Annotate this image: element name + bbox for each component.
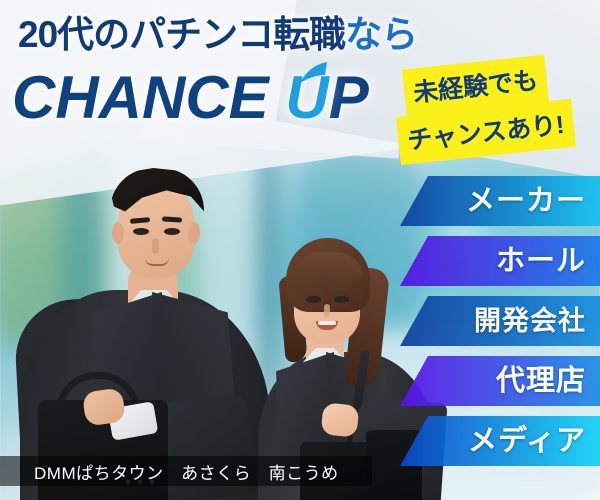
headline-bright-text: なら	[345, 14, 417, 55]
advertisement-banner[interactable]: 20代のパチンコ転職なら CHANCE U P 未経験でも チャンスあり! メー…	[0, 0, 600, 500]
headline: 20代のパチンコ転職なら	[18, 16, 417, 53]
logo-word-chance: CHANCE	[12, 64, 269, 131]
category-label-hall: ホール	[496, 247, 586, 276]
logo-letter-u-glyph: U	[285, 64, 328, 131]
category-button-hall[interactable]: ホール	[400, 236, 600, 286]
category-button-list: メーカー ホール 開発会社 代理店 メディア	[400, 176, 600, 476]
headline-dark-text: 20代のパチンコ転職	[18, 14, 345, 55]
logo-letter-p: P	[329, 64, 369, 131]
credit-bar: DMMぱちタウン あさくら 南こうめ	[0, 456, 372, 486]
category-label-media: メディア	[468, 427, 586, 456]
category-label-agency: 代理店	[496, 367, 586, 396]
logo-chance-up: CHANCE U P	[12, 68, 369, 128]
category-button-agency[interactable]: 代理店	[400, 356, 600, 406]
logo-letter-u: U	[285, 68, 328, 128]
category-label-development-company: 開発会社	[474, 308, 586, 335]
category-button-maker[interactable]: メーカー	[400, 176, 600, 226]
category-label-maker: メーカー	[466, 187, 586, 216]
category-button-development-company[interactable]: 開発会社	[400, 296, 600, 346]
credit-text: DMMぱちタウン あさくら 南こうめ	[0, 459, 339, 484]
category-button-media[interactable]: メディア	[400, 416, 600, 466]
